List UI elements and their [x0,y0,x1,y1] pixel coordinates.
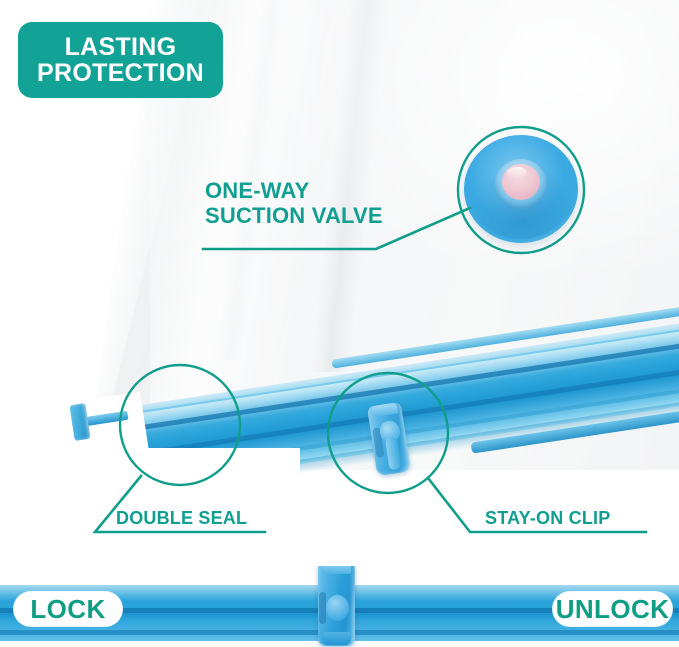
badge-line1: LASTING [65,34,177,60]
callout-valve-line2: SUCTION VALVE [205,204,383,229]
bottom-clip-notch [319,592,326,624]
lock-unlock-bar: LOCK UNLOCK [0,566,679,647]
valve-core-highlight [507,167,527,178]
lock-label-pill: LOCK [14,592,122,626]
bottom-clip-cap [322,566,351,574]
one-way-suction-valve [464,135,578,243]
badge-line2: PROTECTION [37,60,204,86]
callout-one-way-suction-valve: ONE-WAY SUCTION VALVE [205,179,383,228]
bottom-clip-bulb [326,595,349,621]
bottom-stay-on-clip [318,566,355,646]
lasting-protection-badge: LASTING PROTECTION [18,22,223,98]
callout-valve-line1: ONE-WAY [205,178,310,203]
product-infographic: ONE-WAY SUCTION VALVE DOUBLE SEAL STAY-O… [0,0,679,647]
unlock-label-pill: UNLOCK [553,592,672,626]
callout-double-seal: DOUBLE SEAL [116,508,247,528]
bottom-clip-foot [322,632,351,645]
callout-stay-on-clip: STAY-ON CLIP [485,508,610,528]
